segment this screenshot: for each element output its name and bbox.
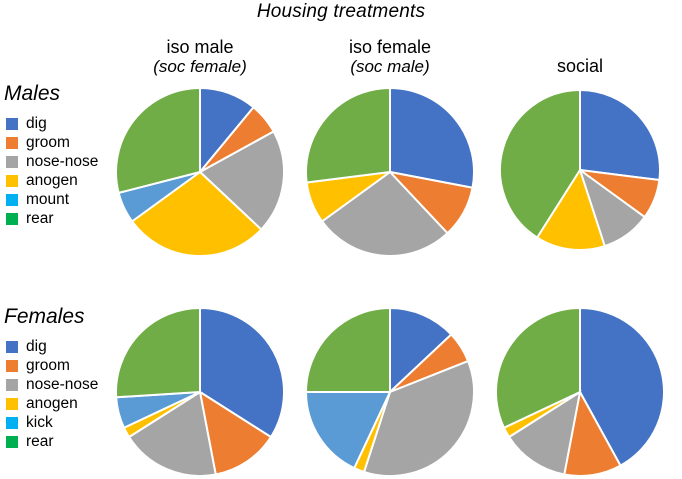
row-label-females: Females bbox=[4, 305, 85, 329]
legend-item-rear[interactable]: rear bbox=[6, 209, 98, 228]
legend-swatch-rear bbox=[6, 213, 18, 225]
legend-label: anogen bbox=[26, 396, 78, 411]
column-heading-label: iso female bbox=[349, 37, 431, 57]
pie-slice-rear[interactable] bbox=[306, 308, 390, 392]
legend-item-rear[interactable]: rear bbox=[6, 432, 98, 451]
legend-swatch-anogen bbox=[6, 398, 18, 410]
column-heading-sublabel: (soc female) bbox=[100, 57, 300, 76]
legend-label: kick bbox=[26, 415, 53, 430]
legend-swatch-dig bbox=[6, 341, 18, 353]
legend-label: rear bbox=[26, 211, 54, 226]
pie-chart-males-social bbox=[497, 87, 663, 253]
legend-item-mount[interactable]: mount bbox=[6, 190, 98, 209]
legend-swatch-anogen bbox=[6, 175, 18, 187]
column-heading-sublabel: (soc male) bbox=[290, 57, 490, 76]
legend-item-nose-nose[interactable]: nose-nose bbox=[6, 152, 98, 171]
legend-item-dig[interactable]: dig bbox=[6, 337, 98, 356]
pie-chart-females-social bbox=[493, 305, 667, 479]
legend-item-anogen[interactable]: anogen bbox=[6, 171, 98, 190]
figure-title: Housing treatments bbox=[0, 1, 682, 23]
legend-item-anogen[interactable]: anogen bbox=[6, 394, 98, 413]
pie-slice-rear[interactable] bbox=[116, 308, 200, 397]
legend-swatch-dig bbox=[6, 118, 18, 130]
legend-label: groom bbox=[26, 358, 70, 373]
legend-item-groom[interactable]: groom bbox=[6, 133, 98, 152]
legend-females: diggroomnose-noseanogenkickrear bbox=[6, 337, 98, 451]
legend-swatch-groom bbox=[6, 137, 18, 149]
legend-item-groom[interactable]: groom bbox=[6, 356, 98, 375]
row-label-males: Males bbox=[4, 82, 60, 106]
legend-swatch-nose-nose bbox=[6, 156, 18, 168]
legend-label: rear bbox=[26, 434, 54, 449]
legend-swatch-nose-nose bbox=[6, 379, 18, 391]
legend-label: groom bbox=[26, 135, 70, 150]
column-heading-social: social bbox=[480, 57, 680, 76]
pie-slice-dig[interactable] bbox=[580, 90, 660, 180]
column-heading-label: iso male bbox=[166, 37, 233, 57]
legend-item-kick[interactable]: kick bbox=[6, 413, 98, 432]
legend-label: dig bbox=[26, 116, 47, 131]
legend-item-dig[interactable]: dig bbox=[6, 114, 98, 133]
legend-label: anogen bbox=[26, 173, 78, 188]
legend-swatch-mount bbox=[6, 194, 18, 206]
figure-canvas: Housing treatments iso male (soc female)… bbox=[0, 0, 682, 462]
pie-chart-males-iso-female bbox=[303, 85, 477, 259]
legend-swatch-rear bbox=[6, 436, 18, 448]
column-heading-iso-male: iso male (soc female) bbox=[100, 38, 300, 76]
column-heading-label: social bbox=[557, 56, 603, 76]
pie-chart-females-iso-male bbox=[113, 305, 287, 479]
pie-chart-females-iso-female bbox=[303, 305, 477, 479]
legend-males: diggroomnose-noseanogenmountrear bbox=[6, 114, 98, 228]
legend-label: nose-nose bbox=[26, 377, 98, 392]
pie-slice-rear[interactable] bbox=[306, 88, 390, 183]
pie-chart-males-iso-male bbox=[113, 85, 287, 259]
legend-swatch-groom bbox=[6, 360, 18, 372]
column-heading-iso-female: iso female (soc male) bbox=[290, 38, 490, 76]
pie-slice-dig[interactable] bbox=[390, 88, 474, 188]
legend-label: dig bbox=[26, 339, 47, 354]
legend-label: mount bbox=[26, 192, 69, 207]
legend-swatch-kick bbox=[6, 417, 18, 429]
legend-label: nose-nose bbox=[26, 154, 98, 169]
legend-item-nose-nose[interactable]: nose-nose bbox=[6, 375, 98, 394]
